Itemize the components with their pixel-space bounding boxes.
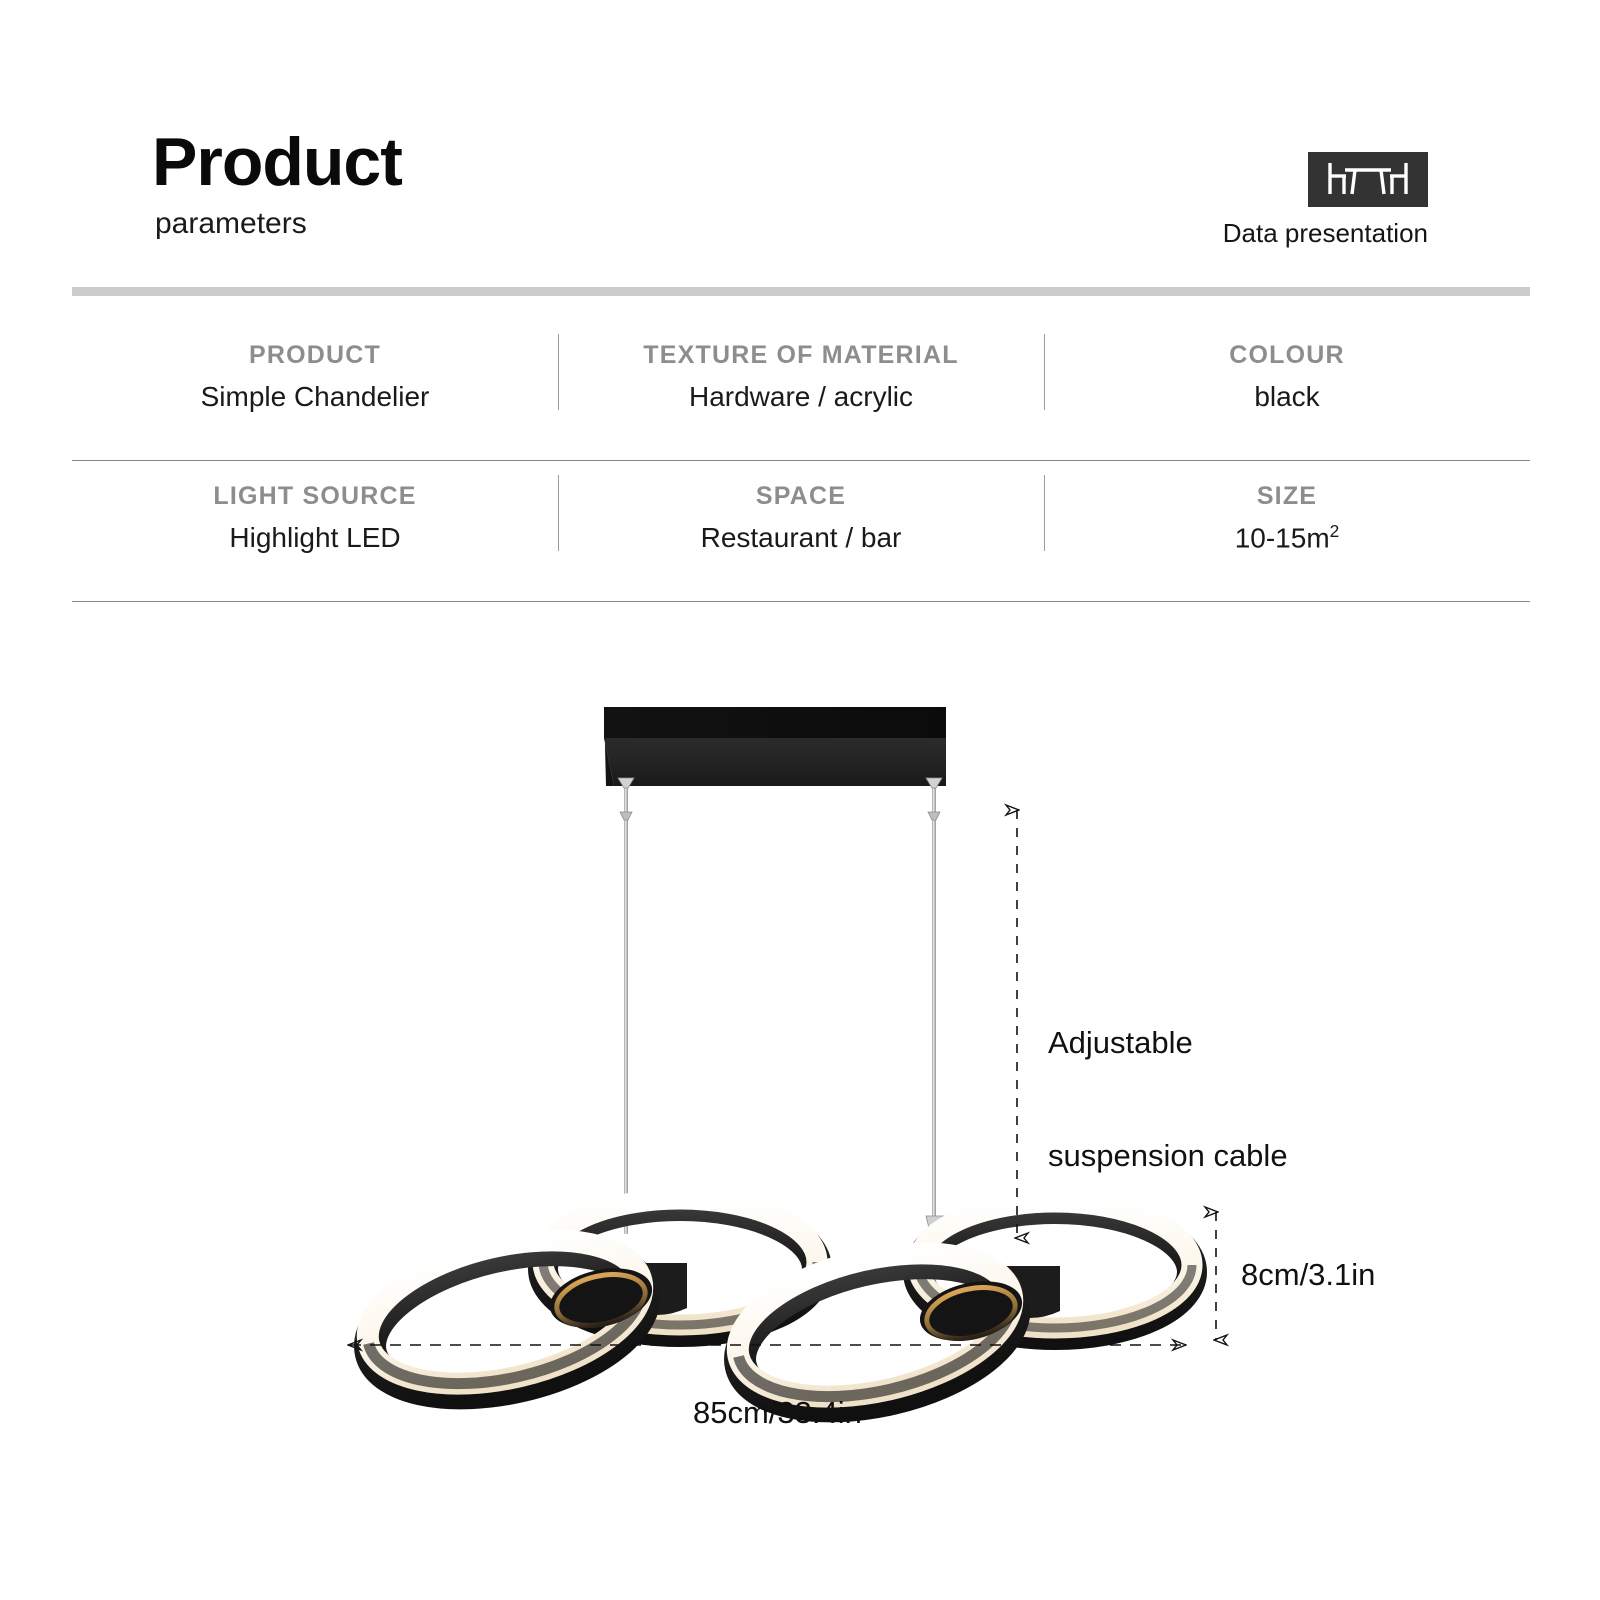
spec-value: Restaurant / bar — [558, 522, 1044, 554]
spec-value-size: 10-15m2 — [1044, 522, 1530, 555]
spec-cell-product: PRODUCT Simple Chandelier — [72, 320, 558, 460]
dimension-label-suspension-line2: suspension cable — [1048, 1137, 1288, 1175]
spec-cell-colour: COLOUR black — [1044, 320, 1530, 460]
spec-value: black — [1044, 381, 1530, 413]
page-header: Product parameters — [0, 0, 1600, 300]
spec-cell-texture-of-material: TEXTURE OF MATERIAL Hardware / acrylic — [558, 320, 1044, 460]
brand-caption: Data presentation — [1168, 218, 1428, 249]
spec-cell-size: SIZE 10-15m2 — [1044, 461, 1530, 601]
spec-table: PRODUCT Simple Chandelier TEXTURE OF MAT… — [72, 320, 1530, 602]
spec-cell-space: SPACE Restaurant / bar — [558, 461, 1044, 601]
spec-label: COLOUR — [1044, 342, 1530, 370]
spec-value: Simple Chandelier — [72, 381, 558, 413]
page-title: Product — [152, 128, 402, 196]
dimension-label-suspension-line1: Adjustable — [1048, 1024, 1288, 1062]
product-illustration — [0, 660, 1600, 1480]
header-divider-bar — [72, 287, 1530, 296]
spec-row: LIGHT SOURCE Highlight LED SPACE Restaur… — [72, 461, 1530, 601]
ceiling-canopy — [604, 707, 946, 786]
spec-label: PRODUCT — [72, 342, 558, 370]
spec-label: SPACE — [558, 483, 1044, 511]
spec-label: TEXTURE OF MATERIAL — [558, 342, 1044, 370]
dimension-label-height: 8cm/3.1in — [1241, 1256, 1375, 1294]
spec-cell-light-source: LIGHT SOURCE Highlight LED — [72, 461, 558, 601]
spec-row: PRODUCT Simple Chandelier TEXTURE OF MAT… — [72, 320, 1530, 460]
dimension-label-suspension: Adjustable suspension cable — [1048, 948, 1288, 1213]
spec-label: LIGHT SOURCE — [72, 483, 558, 511]
spec-value-size-text: 10-15m — [1235, 522, 1330, 553]
spec-value-size-superscript: 2 — [1330, 521, 1340, 541]
spec-row-divider — [72, 601, 1530, 602]
dimension-label-width: 85cm/33.4in — [693, 1394, 862, 1432]
suspension-cables — [618, 778, 944, 1234]
spec-value: Highlight LED — [72, 522, 558, 554]
brand-block: Data presentation — [1168, 152, 1428, 249]
page-subtitle: parameters — [155, 209, 307, 239]
spec-value: Hardware / acrylic — [558, 381, 1044, 413]
table-and-chairs-icon — [1308, 152, 1428, 207]
spec-label: SIZE — [1044, 483, 1530, 511]
